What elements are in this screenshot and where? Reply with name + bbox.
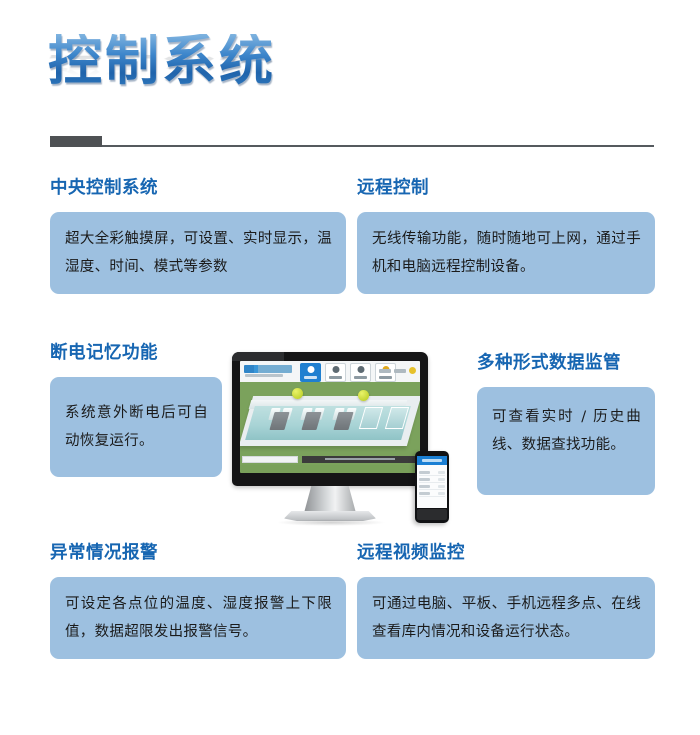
feature-heading: 远程视频监控 bbox=[357, 545, 655, 563]
status-text-placeholder bbox=[379, 369, 391, 373]
status-text-placeholder bbox=[394, 369, 406, 373]
divider-line bbox=[50, 145, 654, 147]
feature-description-box: 可查看实时 / 历史曲线、数据查找功能。 bbox=[477, 387, 655, 495]
list-item bbox=[419, 484, 445, 490]
feature-heading: 中央控制系统 bbox=[50, 180, 346, 198]
smartphone bbox=[415, 451, 449, 523]
toolbar-status-group bbox=[379, 367, 416, 374]
monitor-shadow bbox=[276, 519, 386, 526]
feature-data-supervision: 多种形式数据监管 可查看实时 / 历史曲线、数据查找功能。 bbox=[477, 355, 655, 495]
phone-bottom-bar bbox=[417, 509, 447, 520]
monitor-stand-neck bbox=[304, 486, 356, 513]
home-icon[interactable] bbox=[300, 363, 321, 382]
feature-central-control: 中央控制系统 超大全彩触摸屏，可设置、实时显示，温湿度、时间、模式等参数 bbox=[50, 180, 346, 294]
phone-screen bbox=[417, 456, 447, 508]
feature-description-box: 可设定各点位的温度、湿度报警上下限值，数据超限发出报警信号。 bbox=[50, 577, 346, 660]
list-item bbox=[419, 491, 445, 497]
section-divider bbox=[50, 133, 654, 147]
device-illustration bbox=[232, 352, 468, 530]
feature-description-box: 无线传输功能，随时随地可上网，通过手机和电脑远程控制设备。 bbox=[357, 212, 655, 295]
scene-status-left bbox=[242, 456, 298, 463]
feature-heading: 断电记忆功能 bbox=[50, 345, 222, 363]
feature-description-box: 超大全彩触摸屏，可设置、实时显示，温湿度、时间、模式等参数 bbox=[50, 212, 346, 295]
page-title: 控制系统 bbox=[48, 34, 468, 88]
feature-heading: 远程控制 bbox=[357, 180, 655, 198]
scene-status-right bbox=[302, 456, 418, 463]
divider-accent-block bbox=[50, 136, 102, 147]
feature-heading: 多种形式数据监管 bbox=[477, 355, 655, 373]
desktop-monitor bbox=[232, 352, 428, 486]
feature-remote-control: 远程控制 无线传输功能，随时随地可上网，通过手机和电脑远程控制设备。 bbox=[357, 180, 655, 294]
app-logo-subtitle bbox=[245, 374, 283, 377]
monitor-icon[interactable] bbox=[350, 363, 371, 382]
sensor-icon bbox=[292, 388, 303, 399]
app-toolbar bbox=[240, 361, 420, 383]
feature-remote-video-monitoring: 远程视频监控 可通过电脑、平板、手机远程多点、在线查看库内情况和设备运行状态。 bbox=[357, 545, 655, 659]
feature-description-box: 可通过电脑、平板、手机远程多点、在线查看库内情况和设备运行状态。 bbox=[357, 577, 655, 660]
scene-status-bar bbox=[242, 456, 418, 463]
feature-heading: 异常情况报警 bbox=[50, 545, 346, 563]
page-title-block: 控制系统 控制系统 bbox=[48, 34, 468, 134]
sensor-icon bbox=[358, 390, 369, 401]
list-item bbox=[419, 470, 445, 476]
feature-power-off-memory: 断电记忆功能 系统意外断电后可自动恢复运行。 bbox=[50, 345, 222, 477]
app-logo-icon bbox=[244, 365, 292, 373]
user-icon[interactable] bbox=[325, 363, 346, 382]
feature-description-box: 系统意外断电后可自动恢复运行。 bbox=[50, 377, 222, 478]
feature-abnormal-alarm: 异常情况报警 可设定各点位的温度、湿度报警上下限值，数据超限发出报警信号。 bbox=[50, 545, 346, 659]
phone-app-header bbox=[417, 456, 447, 465]
facility-3d-scene bbox=[240, 382, 420, 465]
status-indicator-icon bbox=[409, 367, 416, 374]
monitor-screen bbox=[240, 361, 420, 473]
list-item bbox=[419, 477, 445, 483]
